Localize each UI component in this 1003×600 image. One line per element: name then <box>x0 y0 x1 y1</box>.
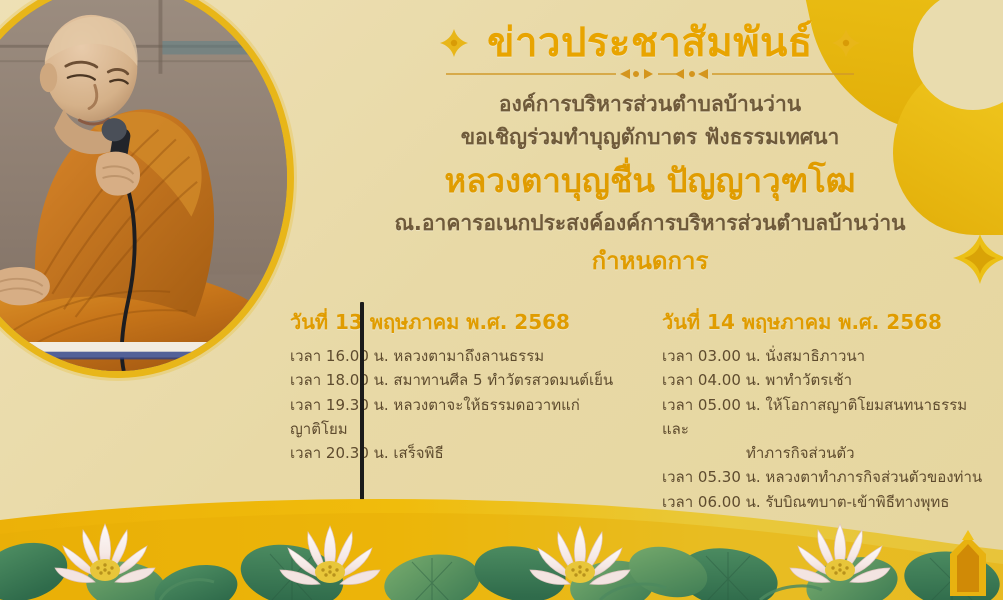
monk-name: หลวงตาบุญชื่น ปัญญาวุฑโฒ <box>300 157 1000 205</box>
ornamental-divider-icon <box>440 66 860 82</box>
schedule-item: เวลา 05.30 น. หลวงตาทำภารกิจส่วนตัวของท่… <box>662 465 990 489</box>
schedule-list-day1: เวลา 16.00 น. หลวงตามาถึงลานธรรม เวลา 18… <box>290 344 622 465</box>
poster-header: ข่าวประชาสัมพันธ์ องค์การบริหารส่วนตำบลบ… <box>300 22 1000 280</box>
diamond-flourish-icon-left <box>439 28 469 58</box>
agenda-heading: กำหนดการ <box>300 241 1000 280</box>
schedule-item: เวลา 05.00 น. ให้โอกาสญาติโยมสนทนาธรรมแล… <box>662 393 990 442</box>
schedule-item: เวลา 20.30 น. เสร็จพิธี <box>290 441 622 465</box>
schedule-date-day2: วันที่ 14 พฤษภาคม พ.ศ. 2568 <box>662 306 990 338</box>
column-divider <box>360 302 364 507</box>
thai-gold-spire-ornament-icon <box>950 530 986 596</box>
schedule-item: เวลา 16.00 น. หลวงตามาถึงลานธรรม <box>290 344 622 368</box>
lotus-decorative-band <box>0 490 1003 600</box>
schedule-date-day1: วันที่ 13 พฤษภาคม พ.ศ. 2568 <box>290 306 622 338</box>
schedule-item: เวลา 18.00 น. สมาทานศีล 5 ทำวัตรสวดมนต์เ… <box>290 368 622 392</box>
venue-line: ณ.อาคารอเนกประสงค์องค์การบริหารส่วนตำบลบ… <box>300 207 1000 240</box>
monk-portrait-photo <box>0 0 294 378</box>
schedule-item: เวลา 19.30 น. หลวงตาจะให้ธรรมดอวาทแก่ญาต… <box>290 393 622 442</box>
organization-name: องค์การบริหารส่วนตำบลบ้านว่าน <box>300 88 1000 121</box>
invitation-line: ขอเชิญร่วมทำบุญตักบาตร ฟังธรรมเทศนา <box>300 121 1000 154</box>
monk-photo-illustration <box>0 0 287 371</box>
lotus-band-illustration <box>0 490 1003 600</box>
title-row: ข่าวประชาสัมพันธ์ <box>300 22 1000 64</box>
schedule-item: เวลา 03.00 น. นั่งสมาธิภาวนา <box>662 344 990 368</box>
schedule-item: เวลา 04.00 น. พาทำวัตรเช้า <box>662 368 990 392</box>
gold-floral-ornament-icon <box>951 232 1003 290</box>
diamond-flourish-icon-right <box>831 28 861 58</box>
schedule-item: ทำภารกิจส่วนตัว <box>662 441 990 465</box>
page-title: ข่าวประชาสัมพันธ์ <box>487 22 813 64</box>
poster-canvas: ข่าวประชาสัมพันธ์ องค์การบริหารส่วนตำบลบ… <box>0 0 1003 600</box>
